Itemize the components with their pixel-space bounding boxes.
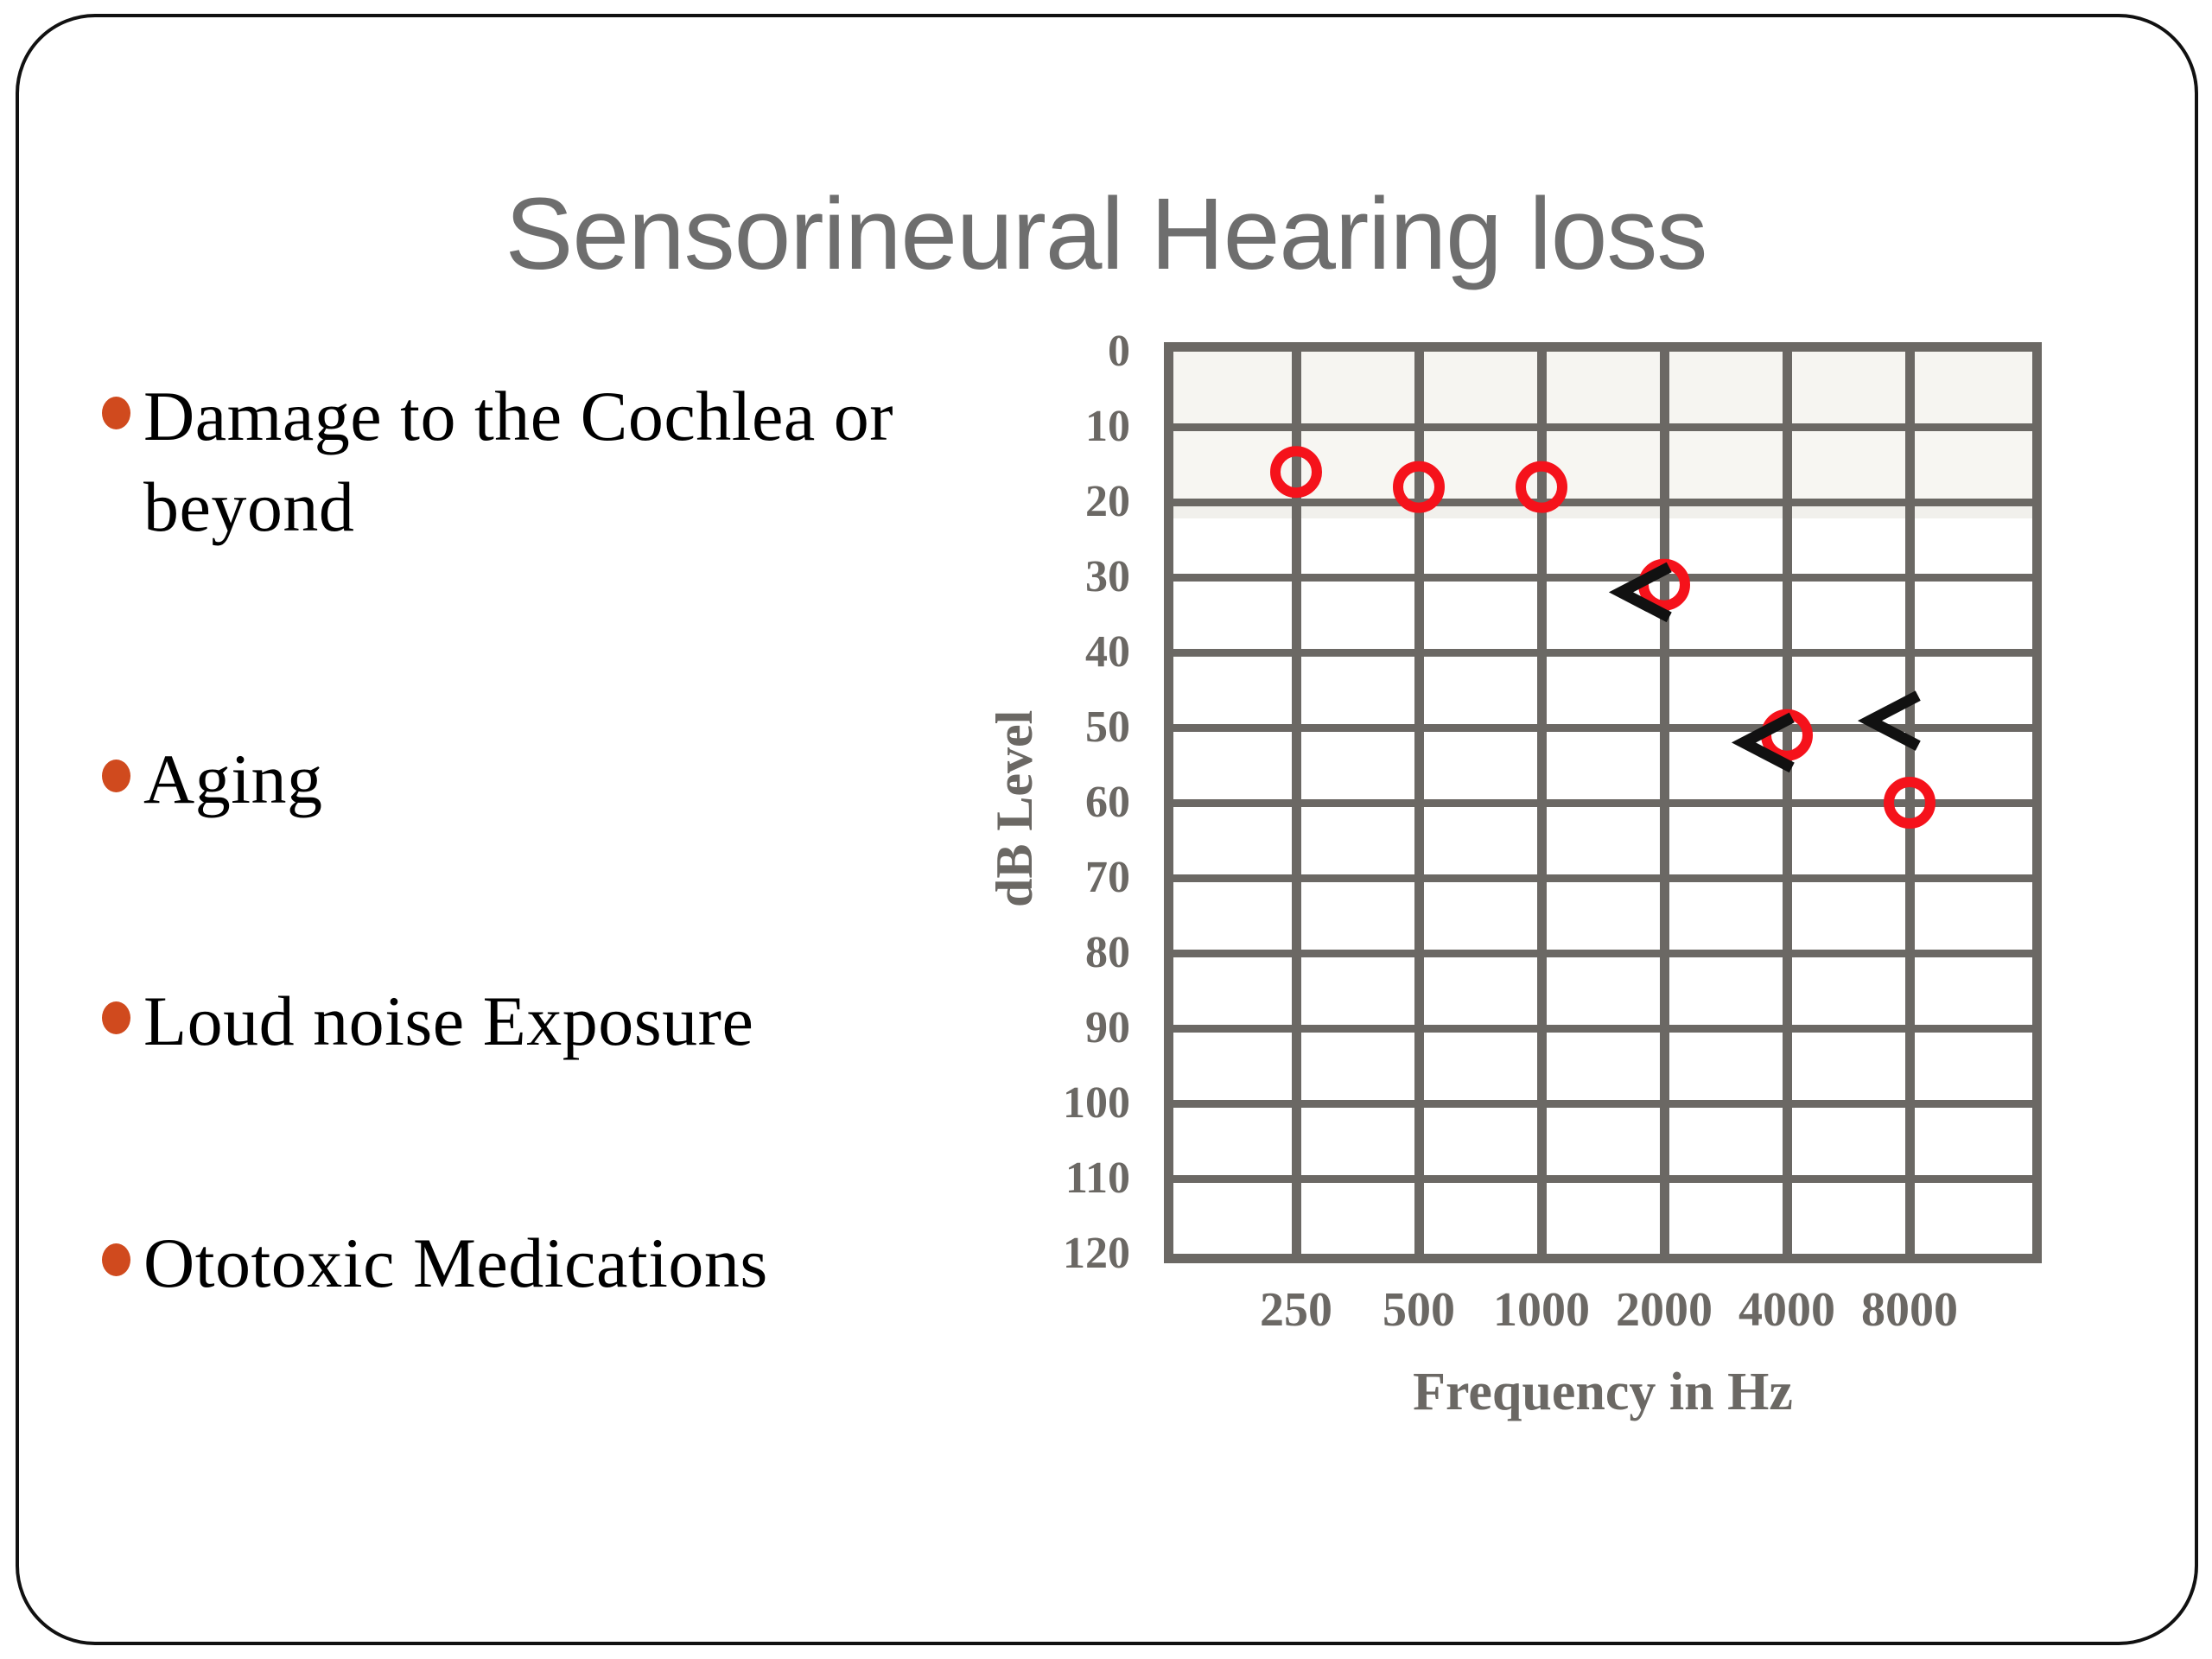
grid-line-horizontal — [1173, 574, 2032, 582]
bullet-label: Aging — [143, 734, 1033, 825]
list-item: Aging — [100, 734, 1033, 825]
y-axis-tick-label: 100 — [949, 1081, 1130, 1126]
page-title: Sensorineural Hearing loss — [0, 183, 2212, 285]
grid-line-vertical — [1537, 352, 1547, 1254]
grid-line-horizontal — [1173, 1025, 2032, 1033]
bullet-dot-icon — [100, 757, 131, 793]
grid-line-horizontal — [1173, 724, 2032, 732]
audiogram-chart — [1164, 342, 2042, 1263]
grid-line-horizontal — [1173, 799, 2032, 807]
grid-line-vertical — [1292, 352, 1301, 1254]
grid-line-vertical — [1414, 352, 1424, 1254]
list-item: Ototoxic Medications — [100, 1218, 1033, 1309]
y-axis-tick-labels: 0102030405060708090100110120 — [950, 342, 1146, 1263]
y-axis-tick-label: 90 — [949, 1006, 1130, 1051]
y-axis-tick-label: 110 — [949, 1156, 1130, 1201]
chart-grid — [1164, 342, 2042, 1263]
y-axis-tick-label: 80 — [949, 931, 1130, 976]
grid-line-horizontal — [1173, 874, 2032, 882]
grid-line-horizontal — [1173, 649, 2032, 657]
list-item: Loud noise Exposure — [100, 976, 1033, 1067]
grid-line-horizontal — [1173, 423, 2032, 431]
bullet-dot-icon — [100, 1241, 131, 1277]
y-axis-tick-label: 20 — [949, 480, 1130, 524]
bullet-label: Damage to the Cochlea or beyond — [143, 372, 1033, 553]
bullet-label: Loud noise Exposure — [143, 976, 1033, 1067]
grid-line-horizontal — [1173, 1175, 2032, 1183]
grid-line-horizontal — [1173, 950, 2032, 957]
grid-line-vertical — [1905, 352, 1915, 1254]
bullet-dot-icon — [100, 999, 131, 1035]
grid-line-vertical — [1783, 352, 1792, 1254]
grid-line-horizontal — [1173, 499, 2032, 506]
slide: Sensorineural Hearing loss Damage to the… — [0, 0, 2212, 1659]
grid-tint-band — [1173, 352, 2032, 427]
grid-line-horizontal — [1173, 1100, 2032, 1108]
bullet-dot-icon — [100, 394, 131, 430]
grid-tint-band — [1173, 427, 2032, 502]
x-axis-tick-labels: 2505001000200040008000 — [1164, 1286, 2042, 1346]
y-axis-title: dB Level — [985, 544, 1045, 907]
y-axis-tick-label: 0 — [949, 329, 1130, 374]
grid-line-vertical — [1660, 352, 1669, 1254]
list-item: Damage to the Cochlea or beyond — [100, 372, 1033, 553]
y-axis-tick-label: 10 — [949, 404, 1130, 449]
x-axis-tick-label: 8000 — [1815, 1286, 2005, 1334]
x-axis-title: Frequency in Hz — [1164, 1362, 2042, 1423]
y-axis-tick-label: 120 — [949, 1231, 1130, 1276]
bullet-label: Ototoxic Medications — [143, 1218, 1033, 1309]
